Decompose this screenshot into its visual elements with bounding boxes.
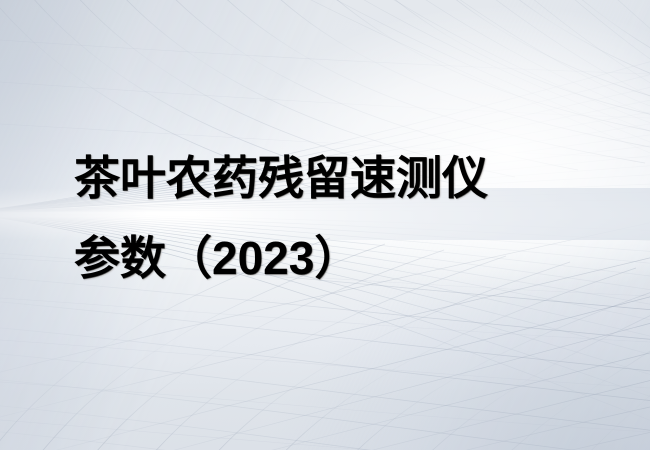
poster-title: 茶叶农药残留速测仪 参数（2023） <box>74 138 488 298</box>
title-line-1: 茶叶农药残留速测仪 <box>74 138 488 218</box>
poster-canvas: 茶叶农药残留速测仪 参数（2023） <box>0 0 650 450</box>
title-line-2: 参数（2023） <box>74 218 488 298</box>
